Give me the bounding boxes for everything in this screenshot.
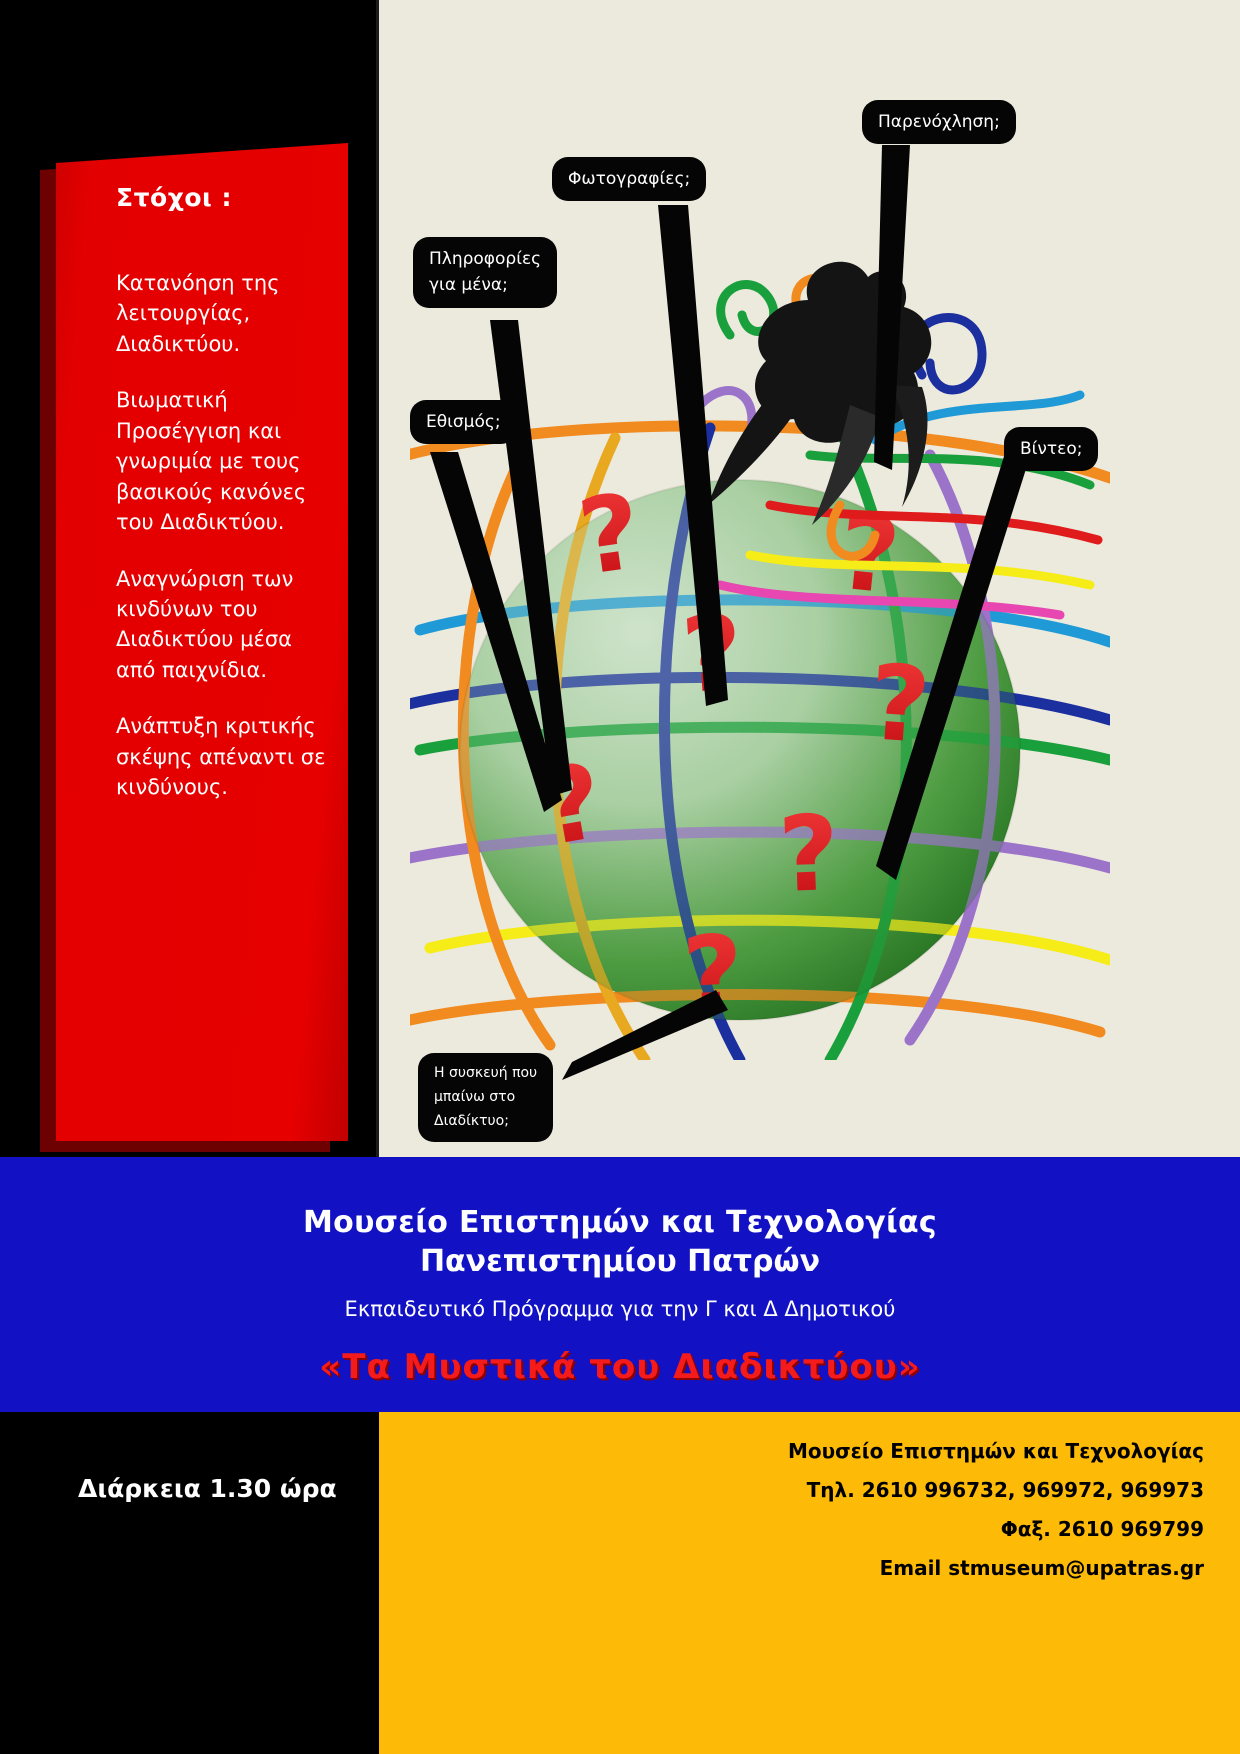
museum-name-line-1: Μουσείο Επιστημών και Τεχνολογίας <box>0 1157 1240 1240</box>
bubble-tails <box>376 0 1240 1157</box>
objective-item-2: Βιωματική Προσέγγιση και γνωριμία με του… <box>116 385 330 537</box>
contact-org: Μουσείο Επιστημών και Τεχνολογίας <box>788 1432 1204 1471</box>
contact-block: Μουσείο Επιστημών και Τεχνολογίας Τηλ. 2… <box>788 1432 1204 1588</box>
footer-blue-band: Μουσείο Επιστημών και Τεχνολογίας Πανεπι… <box>0 1157 1240 1412</box>
program-description: Εκπαιδευτικό Πρόγραμμα για την Γ και Δ Δ… <box>0 1297 1240 1321</box>
poster-root: ? ? ? ? ? ? ? <box>0 0 1240 1754</box>
contact-yellow-box: Μουσείο Επιστημών και Τεχνολογίας Τηλ. 2… <box>379 1412 1240 1754</box>
objectives-box: Στόχοι : Κατανόηση της λειτουργίας, Διαδ… <box>56 143 348 1141</box>
objective-item-1: Κατανόηση της λειτουργίας, Διαδικτύου. <box>116 268 330 359</box>
contact-email: Email stmuseum@upatras.gr <box>788 1549 1204 1588</box>
bubble-info-about-me: Πληροφορίες για μένα; <box>413 237 557 308</box>
bubble-device: Η συσκευή που μπαίνω στο Διαδίκτυο; <box>418 1053 553 1142</box>
bubble-photos: Φωτογραφίες; <box>552 157 706 201</box>
contact-phone: Τηλ. 2610 996732, 969972, 969973 <box>788 1471 1204 1510</box>
bubble-addiction: Εθισμός; <box>410 400 517 444</box>
contact-fax: Φαξ. 2610 969799 <box>788 1510 1204 1549</box>
objectives-heading: Στόχοι : <box>116 183 330 212</box>
program-title: «Τα Μυστικά του Διαδικτύου» <box>0 1347 1240 1387</box>
museum-name-line-2: Πανεπιστημίου Πατρών <box>0 1244 1240 1279</box>
duration-label: Διάρκεια 1.30 ώρα <box>78 1474 337 1503</box>
bubble-harassment: Παρενόχληση; <box>862 100 1016 144</box>
bubble-video: Βίντεο; <box>1004 427 1098 471</box>
objective-item-4: Ανάπτυξη κριτικής σκέψης απέναντι σε κιν… <box>116 711 330 802</box>
objective-item-3: Αναγνώριση των κινδύνων του Διαδικτύου μ… <box>116 564 330 686</box>
